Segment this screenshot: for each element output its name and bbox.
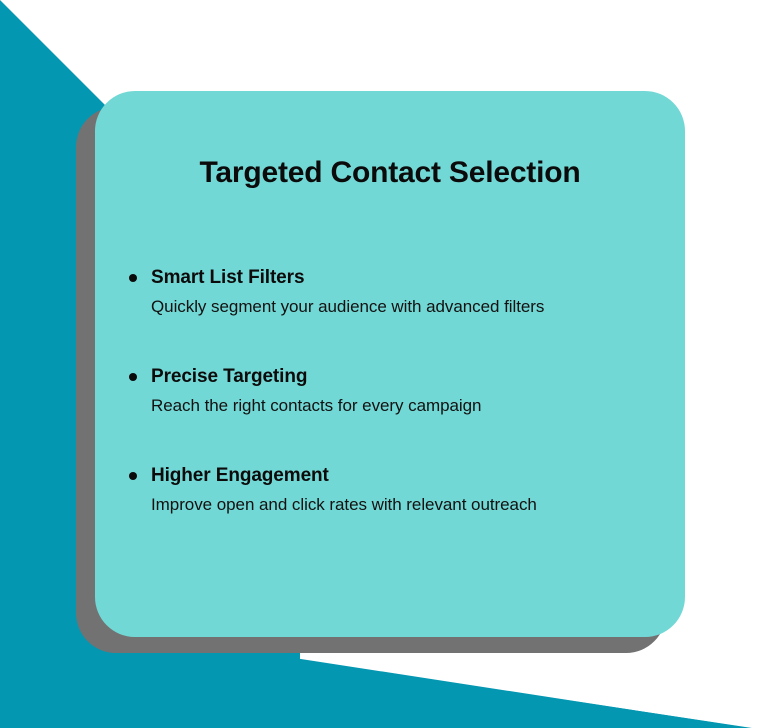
feature-card: Targeted Contact Selection Smart List Fi… [95,91,685,637]
feature-description: Quickly segment your audience with advan… [151,297,663,317]
bullet-dot-icon [129,274,137,282]
slide-canvas: Targeted Contact Selection Smart List Fi… [0,0,780,728]
feature-heading: Smart List Filters [151,267,663,289]
feature-list: Smart List Filters Quickly segment your … [123,267,663,516]
bullet-dot-icon [129,472,137,480]
feature-heading: Higher Engagement [151,465,663,487]
page-title: Targeted Contact Selection [95,156,685,189]
feature-description: Improve open and click rates with releva… [151,495,663,515]
list-item: Higher Engagement Improve open and click… [123,465,663,515]
list-item: Smart List Filters Quickly segment your … [123,267,663,317]
list-item: Precise Targeting Reach the right contac… [123,366,663,416]
feature-description: Reach the right contacts for every campa… [151,396,663,416]
feature-heading: Precise Targeting [151,366,663,388]
bullet-dot-icon [129,373,137,381]
